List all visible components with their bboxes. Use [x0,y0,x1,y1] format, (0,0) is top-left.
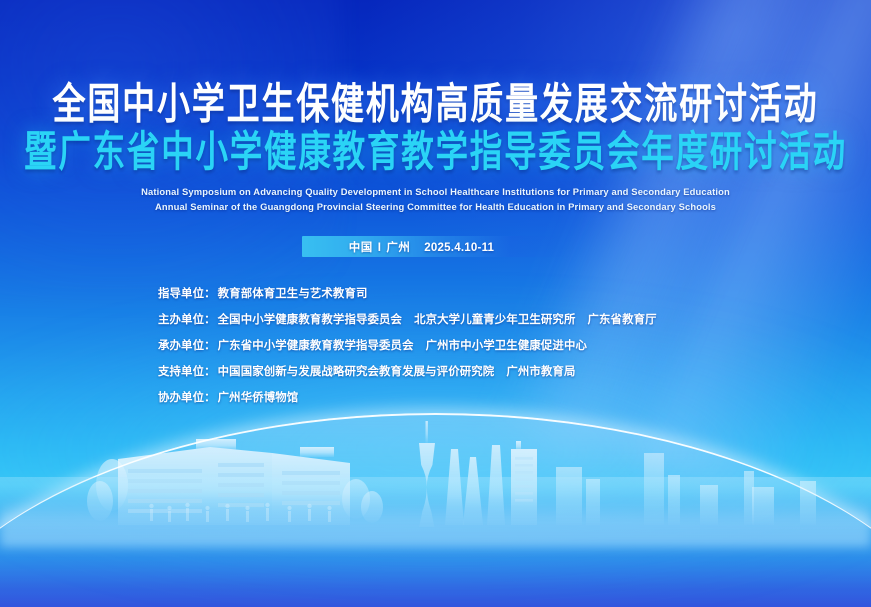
credit-line-host: 主办单位：全国中小学健康教育教学指导委员会北京大学儿童青少年卫生研究所广东省教育… [158,315,871,326]
credit-org: 广东省中小学健康教育教学指导委员会 [218,340,414,352]
badge-separator: I [378,242,382,254]
credit-org: 中国国家创新与发展战略研究会教育发展与评价研究院 [218,366,495,378]
people-figures [149,503,331,522]
credit-line-coorganizer: 协办单位：广州华侨博物馆 [158,393,871,404]
credit-line-organizer: 承办单位：广东省中小学健康教育教学指导委员会广州市中小学卫生健康促进中心 [158,341,871,352]
credit-line-guidance: 指导单位：教育部体育卫生与艺术教育司 [158,289,871,300]
distant-buildings-right [556,453,816,525]
poster-title-line1: 全国中小学卫生保健机构高质量发展交流研讨活动 [0,82,871,125]
conference-poster: 全国中小学卫生保健机构高质量发展交流研讨活动 暨广东省中小学健康教育教学指导委员… [0,0,871,607]
landmark-towers [445,445,505,525]
ground-haze [0,477,871,607]
foreground-trees [87,459,383,523]
badge-date: 2025.4.10-11 [424,242,494,254]
canton-tower [419,421,435,527]
venue-date-badge-row: 中国I广州2025.4.10-11 [0,236,871,257]
credit-org: 教育部体育卫生与艺术教育司 [218,288,368,300]
credit-org: 广东省教育厅 [587,314,656,326]
venue-date-text: 中国I广州2025.4.10-11 [349,239,494,255]
credit-org: 广州市教育局 [506,366,575,378]
credit-label: 支持单位： [158,366,216,378]
credit-org: 全国中小学健康教育教学指导委员会 [218,314,402,326]
office-tower [511,441,537,525]
credit-label: 主办单位： [158,314,216,326]
credit-org: 广州市中小学卫生健康促进中心 [426,340,587,352]
credits-block: 指导单位：教育部体育卫生与艺术教育司 主办单位：全国中小学健康教育教学指导委员会… [0,289,871,404]
badge-country: 中国 [349,242,373,254]
credit-label: 指导单位： [158,288,216,300]
poster-subtitle-en-line2: Annual Seminar of the Guangdong Provinci… [0,201,871,212]
credit-org: 广州华侨博物馆 [218,392,299,404]
badge-city: 广州 [386,242,410,254]
credit-org: 北京大学儿童青少年卫生研究所 [414,314,575,326]
poster-title-line2: 暨广东省中小学健康教育教学指导委员会年度研讨活动 [0,131,871,173]
poster-content: 全国中小学卫生保健机构高质量发展交流研讨活动 暨广东省中小学健康教育教学指导委员… [0,0,871,419]
school-building [118,439,350,525]
credit-label: 承办单位： [158,340,216,352]
venue-date-badge: 中国I广州2025.4.10-11 [302,236,570,257]
skyline-illustration [0,415,871,535]
poster-subtitle-en-line1: National Symposium on Advancing Quality … [0,186,871,197]
skyline-mist [0,501,871,547]
credit-label: 协办单位： [158,392,216,404]
credit-line-support: 支持单位：中国国家创新与发展战略研究会教育发展与评价研究院广州市教育局 [158,367,871,378]
